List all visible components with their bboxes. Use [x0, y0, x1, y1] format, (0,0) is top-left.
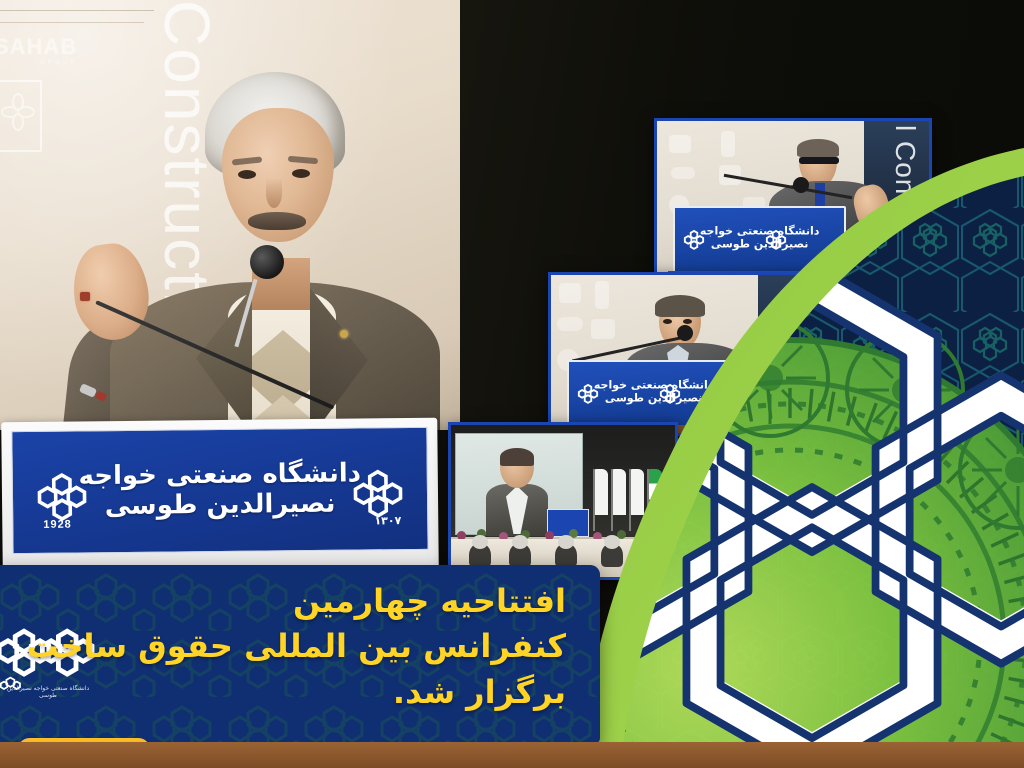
flag-iran [649, 469, 662, 515]
headline-line-1: افتتاحیه چهارمین [26, 579, 566, 624]
audience-person-1 [469, 543, 491, 567]
inset-1-podium: دانشگاه صنعتی خواجه نصیرالدین طوسی [673, 206, 846, 273]
audience-person-4 [601, 543, 623, 567]
inset-2-eye-left [663, 319, 672, 324]
inset-3-remote-speaker-hair [500, 448, 534, 466]
speaker-nose [266, 178, 282, 208]
inset-2-podium: دانشگاه صنعتی خواجه نصیرالدین طوسی [567, 360, 740, 427]
microphone-head-icon [250, 245, 284, 279]
speaker-ring [80, 292, 90, 301]
headline-text: افتتاحیه چهارمین کنفرانس بین المللی حقوق… [26, 579, 566, 715]
headline-line-2: کنفرانس بین المللی حقوق ساخت [26, 624, 566, 669]
audience-person-3 [555, 543, 577, 567]
inset-3-flags-group [589, 469, 665, 531]
bottom-wood-strip [0, 742, 1024, 768]
inset-2-podium-text: دانشگاه صنعتی خواجه نصیرالدین طوسی [569, 379, 738, 405]
podium-sign: دانشگاه صنعتی خواجه نصیرالدین طوسی 1928 … [1, 418, 439, 573]
inset-photo-2: Constr [548, 272, 826, 436]
flag-3 [631, 469, 644, 515]
flag-2 [613, 469, 626, 515]
poster-root: SAHAB GROUP Construction [0, 0, 1024, 768]
headline-line-3: برگزار شد. [26, 670, 566, 715]
inset-2-mark-b [557, 317, 583, 331]
inset-2-screen-text: Constr [783, 279, 815, 367]
speaker-lapel-pin [340, 330, 348, 338]
podium-sign-plate: دانشگاه صنعتی خواجه نصیرالدین طوسی 1928 … [11, 427, 428, 554]
inset-2-mic-head-icon [677, 325, 693, 341]
inset-2-mark-e [591, 319, 615, 339]
speaker-eye-right [292, 169, 310, 178]
speaker-mustache [248, 212, 306, 230]
headline-banner: دانشگاه صنعتی خواجه نصیرالدین طوسی افتتا… [0, 565, 600, 747]
inset-1-mic-head-icon [793, 177, 809, 193]
inset-2-eye-right [683, 319, 692, 324]
inset-2-mark-d [595, 281, 609, 309]
inset-1-podium-text: دانشگاه صنعتی خواجه نصیرالدین طوسی [675, 225, 844, 251]
flag-1 [595, 469, 608, 515]
audience-person-2 [509, 543, 531, 567]
podium-year-gregorian: 1928 [43, 519, 72, 531]
inset-1-screen-text: l Const [889, 125, 921, 219]
inset-2-mark-a [559, 283, 581, 303]
inset-1-mark-d [721, 131, 735, 157]
inset-1-glasses-icon [799, 157, 839, 164]
podium-year-solar: ۱۳۰۷ [374, 514, 401, 527]
speaker-eye-left [238, 170, 256, 179]
inset-2-hair [655, 295, 705, 317]
inset-photo-3 [448, 422, 678, 580]
inset-1-mark-b [671, 167, 695, 179]
inset-1-mark-a [669, 135, 691, 153]
podium-sign-text: دانشگاه صنعتی خواجه نصیرالدین طوسی [13, 457, 428, 521]
inset-1-hair [797, 139, 839, 157]
inset-photo-1: l Const [654, 118, 932, 282]
